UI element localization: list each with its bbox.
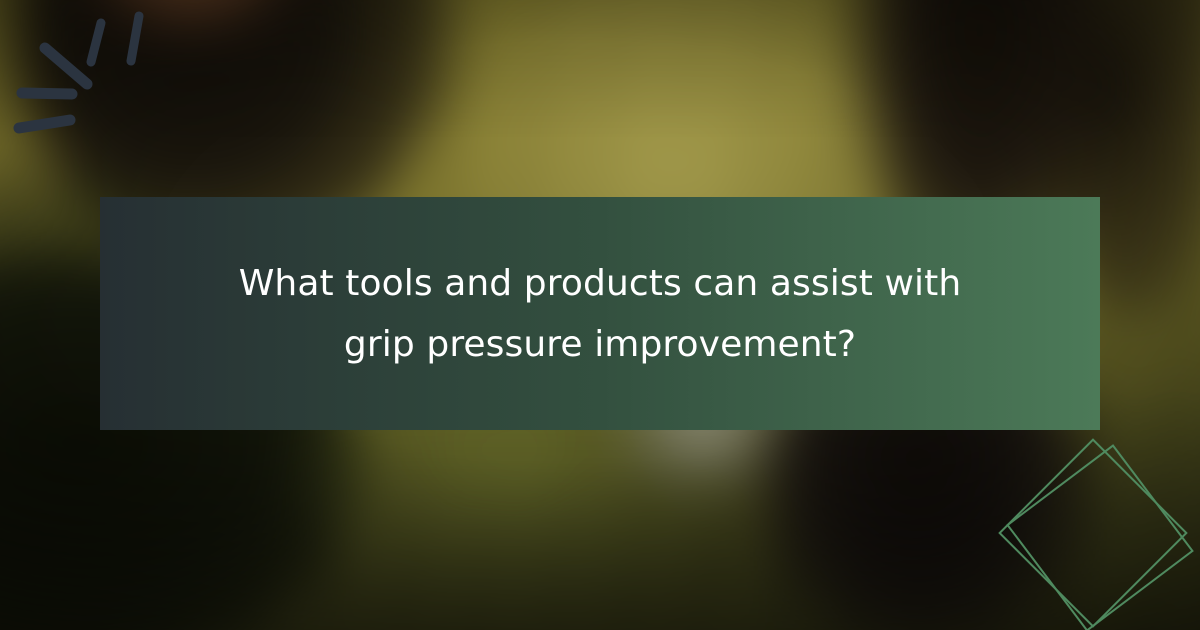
sparkle-ray-1: [91, 23, 101, 62]
sparkle-ray-2: [131, 16, 139, 61]
sparkle-burst-icon: [0, 0, 180, 160]
decor-square-2: [1008, 446, 1193, 630]
sparkle-ray-4: [22, 93, 72, 94]
sparkle-ray-3: [45, 48, 87, 84]
decor-square-1: [1000, 440, 1187, 627]
screenshot-canvas: What tools and products can assist with …: [0, 0, 1200, 630]
sparkle-ray-5: [19, 120, 70, 128]
question-card: What tools and products can assist with …: [100, 197, 1100, 430]
rotated-squares-icon: [985, 425, 1200, 630]
question-title: What tools and products can assist with …: [200, 253, 1000, 375]
